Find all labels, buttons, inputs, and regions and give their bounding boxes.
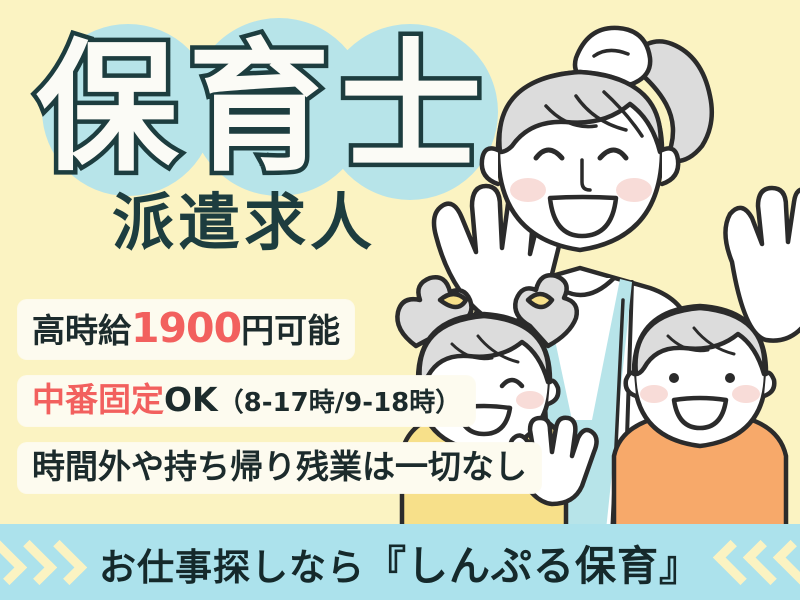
page-title: 保育士	[36, 26, 506, 191]
badge-wage-amount: 1900	[131, 304, 241, 352]
bottom-cta-bar: お仕事探しなら『しんぷる保育』	[0, 524, 800, 600]
badge-shift-highlight: 中番固定	[32, 380, 164, 419]
badge-shift-hours: （8-17時/9-18時）	[218, 388, 462, 418]
chevron-left-group	[723, 543, 800, 582]
chevron-right-group	[0, 543, 77, 582]
badge-hourly-wage: 高時給1900円可能	[18, 300, 354, 359]
badge-wage-prefix: 高時給	[32, 311, 131, 350]
advertisement-banner: 保育士 派遣求人 高時給1900円可能 中番固定OK（8-17時/9-18時） …	[0, 0, 800, 600]
bottom-cta-brand: 『しんぷる保育』	[365, 542, 701, 590]
badge-no-overtime: 時間外や持ち帰り残業は一切なし	[18, 443, 541, 493]
bottom-cta-text: お仕事探しなら『しんぷる保育』	[99, 532, 701, 592]
badge-wage-suffix: 円可能	[241, 311, 340, 350]
badge-shift-ok: OK	[164, 380, 218, 419]
badge-row-wage: 高時給1900円可能	[18, 300, 538, 376]
chevron-right-icon	[42, 539, 87, 584]
page-subtitle: 派遣求人	[112, 192, 376, 254]
badge-row-overtime: 時間外や持ち帰り残業は一切なし	[18, 443, 538, 510]
badge-shift-fixed: 中番固定OK（8-17時/9-18時）	[18, 376, 475, 426]
bottom-cta-lead: お仕事探しなら	[99, 546, 365, 589]
badge-row-shift: 中番固定OK（8-17時/9-18時）	[18, 376, 538, 443]
feature-badge-list: 高時給1900円可能 中番固定OK（8-17時/9-18時） 時間外や持ち帰り残…	[18, 300, 538, 510]
